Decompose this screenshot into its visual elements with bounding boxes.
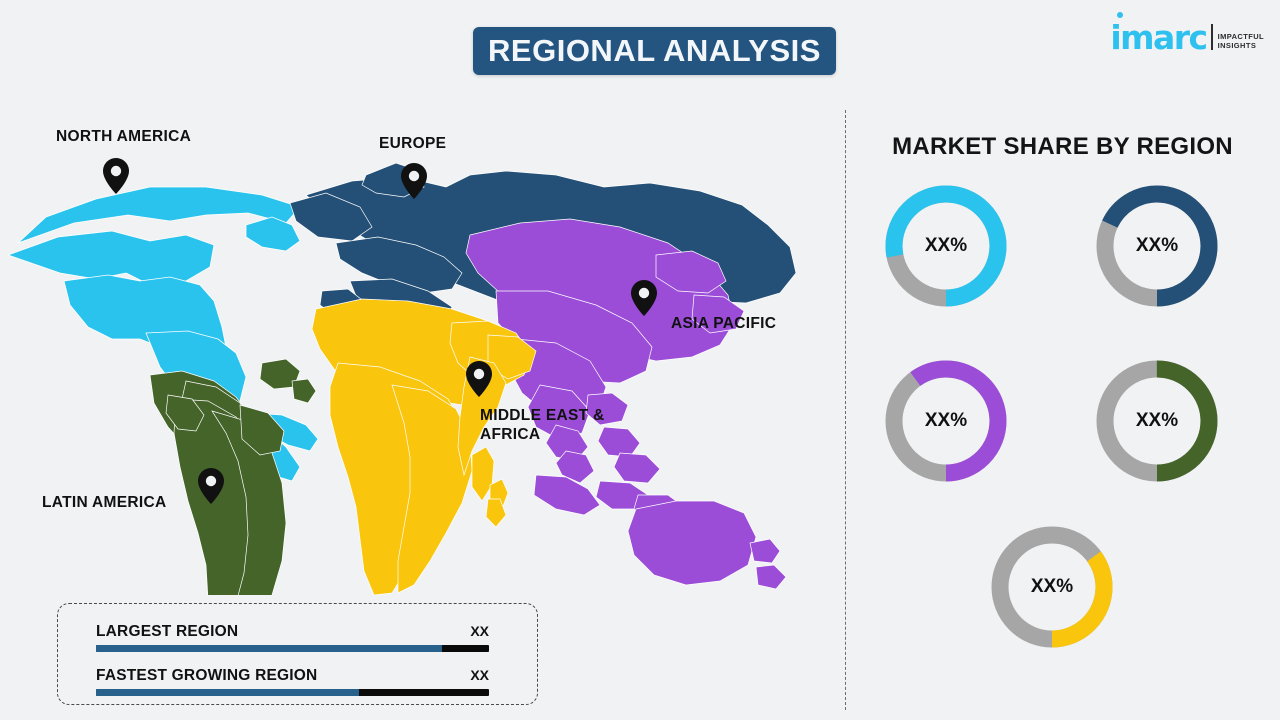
legend-label-largest-region: LARGEST REGION xyxy=(96,623,238,641)
map-region-oceania xyxy=(628,501,786,589)
legend-bar-fastest-growing-region xyxy=(96,689,489,696)
map-pin-middle-east-africa-icon[interactable] xyxy=(466,361,492,397)
logo-wordmark: imarc xyxy=(1110,22,1206,53)
legend-box: LARGEST REGION XX FASTEST GROWING REGION… xyxy=(57,603,538,705)
imarc-logo: imarc IMPACTFUL INSIGHTS xyxy=(1110,22,1264,53)
logo-divider xyxy=(1211,24,1213,50)
legend-row-largest-region: LARGEST REGION XX xyxy=(96,623,489,652)
map-pin-europe-icon[interactable] xyxy=(401,163,427,199)
legend-value-fastest-growing-region: XX xyxy=(470,667,489,683)
donut-value-label: XX% xyxy=(881,181,1011,311)
legend-bar-fill-fastest-growing-region xyxy=(96,689,359,696)
region-label-north-america: NORTH AMERICA xyxy=(56,127,191,146)
legend-value-largest-region: XX xyxy=(470,623,489,639)
region-label-europe: EUROPE xyxy=(379,134,446,153)
map-region-middle-east-africa xyxy=(312,299,536,595)
infographic-canvas: REGIONAL ANALYSIS imarc IMPACTFUL INSIGH… xyxy=(0,0,1280,720)
legend-bar-fill-largest-region xyxy=(96,645,442,652)
donut-value-label: XX% xyxy=(1092,181,1222,311)
map-pin-north-america-icon[interactable] xyxy=(103,158,129,194)
page-title: REGIONAL ANALYSIS xyxy=(473,27,836,75)
legend-label-fastest-growing-region: FASTEST GROWING REGION xyxy=(96,667,317,685)
logo-tagline: IMPACTFUL INSIGHTS xyxy=(1218,32,1264,54)
donut-value-label: XX% xyxy=(881,356,1011,486)
donut-value-label: XX% xyxy=(1092,356,1222,486)
donut-chart-north-america[interactable]: XX% xyxy=(881,181,1011,311)
panel-divider xyxy=(845,110,846,710)
region-label-asia-pacific: ASIA PACIFIC xyxy=(671,314,776,333)
map-region-north-america xyxy=(8,187,336,481)
logo-tagline-line2: INSIGHTS xyxy=(1218,41,1264,50)
donut-chart-middle-east-africa[interactable]: XX% xyxy=(987,522,1117,652)
market-share-heading: MARKET SHARE BY REGION xyxy=(845,133,1280,161)
logo-wordmark-text: imarc xyxy=(1110,18,1206,57)
donut-value-label: XX% xyxy=(987,522,1117,652)
page-title-text: REGIONAL ANALYSIS xyxy=(488,33,821,69)
region-label-latin-america: LATIN AMERICA xyxy=(42,493,166,512)
region-label-middle-east-africa: MIDDLE EAST & AFRICA xyxy=(480,406,604,445)
donut-chart-asia-pacific[interactable]: XX% xyxy=(881,356,1011,486)
map-pin-latin-america-icon[interactable] xyxy=(198,468,224,504)
donut-chart-europe[interactable]: XX% xyxy=(1092,181,1222,311)
legend-bar-largest-region xyxy=(96,645,489,652)
donut-chart-latin-america[interactable]: XX% xyxy=(1092,356,1222,486)
map-pin-asia-pacific-icon[interactable] xyxy=(631,280,657,316)
legend-row-fastest-growing-region: FASTEST GROWING REGION XX xyxy=(96,667,489,696)
logo-tagline-line1: IMPACTFUL xyxy=(1218,32,1264,41)
